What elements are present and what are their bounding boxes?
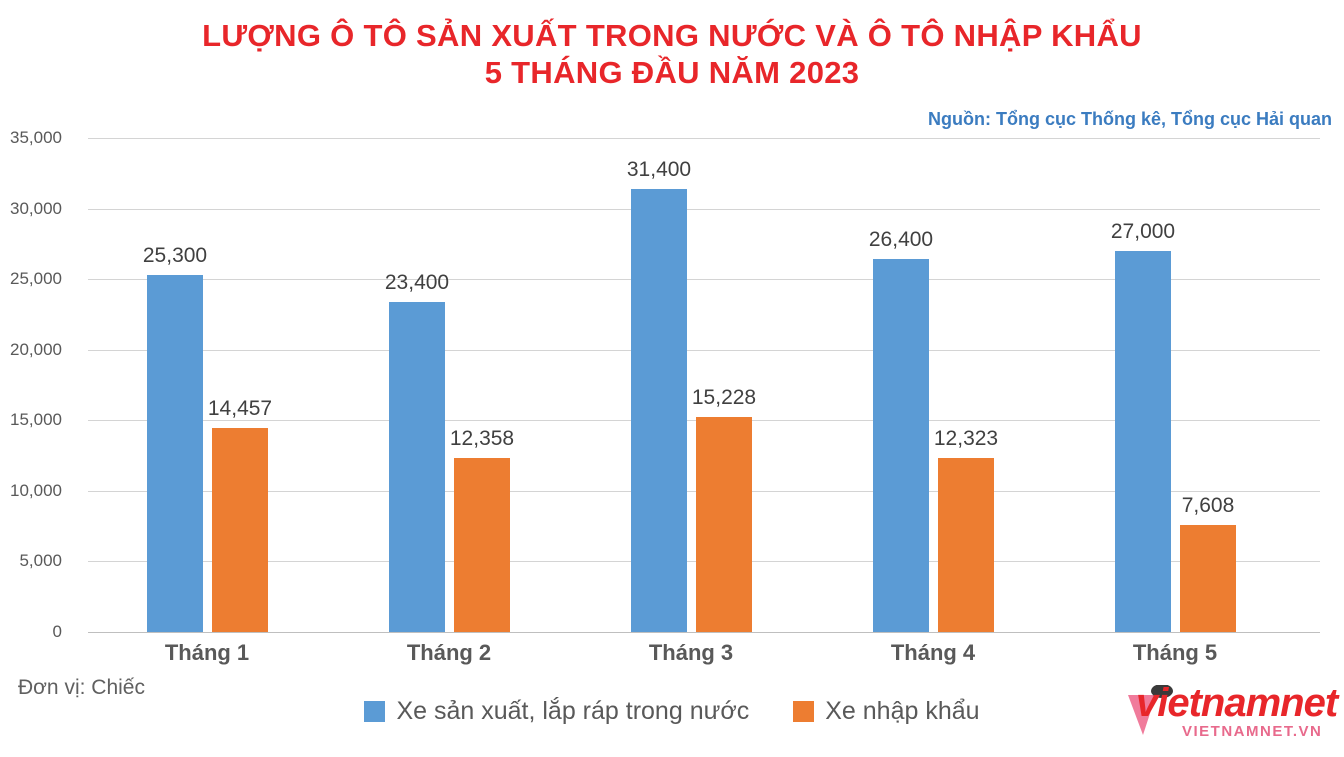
y-axis-tick-label: 35,000 bbox=[0, 128, 62, 148]
bar-value-label: 15,228 bbox=[692, 386, 756, 410]
y-axis-tick-label: 10,000 bbox=[0, 481, 62, 501]
legend-swatch bbox=[364, 701, 385, 722]
bar-group: 26,40012,323Tháng 4 bbox=[873, 138, 994, 632]
x-axis-category-label: Tháng 1 bbox=[165, 640, 249, 666]
x-axis-category-label: Tháng 3 bbox=[649, 640, 733, 666]
bar-domestic[interactable]: 25,300 bbox=[147, 275, 203, 632]
legend-item[interactable]: Xe sản xuất, lắp ráp trong nước bbox=[364, 697, 749, 726]
vietnamnet-logo: vietnamnet VIETNAMNET.VN bbox=[1126, 679, 1330, 751]
y-axis-tick-label: 25,000 bbox=[0, 269, 62, 289]
x-axis-category-label: Tháng 5 bbox=[1133, 640, 1217, 666]
gridline bbox=[88, 632, 1320, 633]
bar-value-label: 23,400 bbox=[385, 271, 449, 295]
bar-imported[interactable]: 12,358 bbox=[454, 458, 510, 632]
bar-value-label: 12,358 bbox=[450, 427, 514, 451]
bar-imported[interactable]: 15,228 bbox=[696, 417, 752, 632]
bar-value-label: 14,457 bbox=[208, 397, 272, 421]
bar-value-label: 12,323 bbox=[934, 427, 998, 451]
logo-wordmark: vietnamnet bbox=[1136, 683, 1337, 723]
plot-grid: 05,00010,00015,00020,00025,00030,00035,0… bbox=[88, 138, 1320, 632]
unit-label: Đơn vị: Chiếc bbox=[18, 676, 145, 700]
bar-group: 25,30014,457Tháng 1 bbox=[147, 138, 268, 632]
bar-value-label: 27,000 bbox=[1111, 220, 1175, 244]
chart-plot-area: 05,00010,00015,00020,00025,00030,00035,0… bbox=[0, 0, 1344, 757]
bar-domestic[interactable]: 23,400 bbox=[389, 302, 445, 632]
bar-imported[interactable]: 14,457 bbox=[212, 428, 268, 632]
bar-value-label: 7,608 bbox=[1182, 494, 1235, 518]
bar-value-label: 26,400 bbox=[869, 228, 933, 252]
y-axis-tick-label: 5,000 bbox=[0, 551, 62, 571]
logo-domain: VIETNAMNET.VN bbox=[1182, 723, 1322, 740]
legend-label: Xe nhập khẩu bbox=[825, 697, 979, 726]
legend-item[interactable]: Xe nhập khẩu bbox=[793, 697, 979, 726]
bar-value-label: 31,400 bbox=[627, 158, 691, 182]
bar-group: 23,40012,358Tháng 2 bbox=[389, 138, 510, 632]
bar-domestic[interactable]: 31,400 bbox=[631, 189, 687, 632]
legend-label: Xe sản xuất, lắp ráp trong nước bbox=[396, 697, 749, 726]
x-axis-category-label: Tháng 4 bbox=[891, 640, 975, 666]
y-axis-tick-label: 30,000 bbox=[0, 199, 62, 219]
x-axis-category-label: Tháng 2 bbox=[407, 640, 491, 666]
bar-value-label: 25,300 bbox=[143, 244, 207, 268]
bar-imported[interactable]: 7,608 bbox=[1180, 525, 1236, 632]
y-axis-tick-label: 20,000 bbox=[0, 340, 62, 360]
bar-domestic[interactable]: 27,000 bbox=[1115, 251, 1171, 632]
bar-domestic[interactable]: 26,400 bbox=[873, 259, 929, 632]
legend-swatch bbox=[793, 701, 814, 722]
bar-group: 27,0007,608Tháng 5 bbox=[1115, 138, 1236, 632]
y-axis-tick-label: 0 bbox=[0, 622, 62, 642]
bar-imported[interactable]: 12,323 bbox=[938, 458, 994, 632]
y-axis-tick-label: 15,000 bbox=[0, 410, 62, 430]
bar-group: 31,40015,228Tháng 3 bbox=[631, 138, 752, 632]
